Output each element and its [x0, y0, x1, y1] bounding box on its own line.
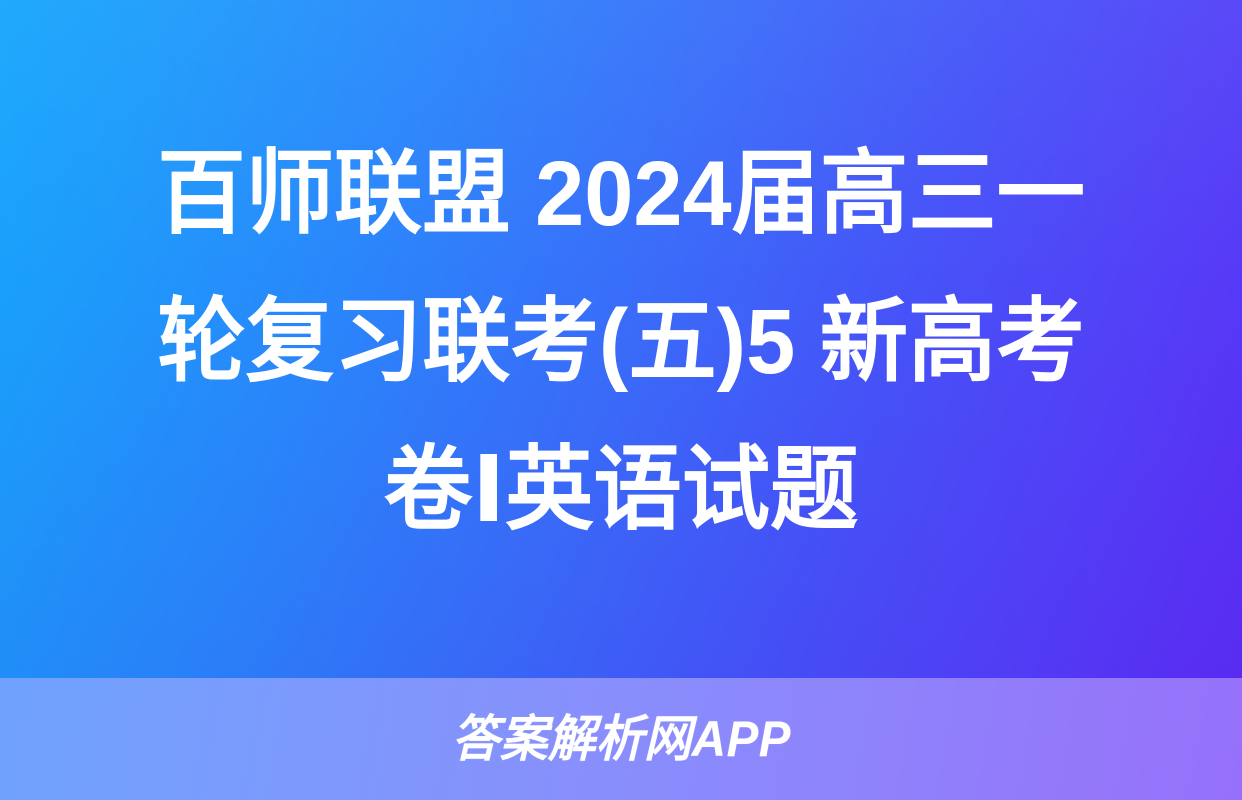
exam-title-line-2: 轮复习联考(五)5 新高考	[157, 268, 1084, 416]
brand-watermark-label: 答案解析网APP	[452, 714, 791, 764]
footer-brand-band: 答案解析网APP	[0, 678, 1242, 800]
exam-title-line-3: 卷Ⅰ英语试题	[384, 416, 858, 564]
title-card-screen: 百师联盟 2024届高三一 轮复习联考(五)5 新高考 卷Ⅰ英语试题 答案解析网…	[0, 0, 1242, 800]
exam-title-block: 百师联盟 2024届高三一 轮复习联考(五)5 新高考 卷Ⅰ英语试题	[0, 0, 1242, 678]
exam-title-line-1: 百师联盟 2024届高三一	[157, 120, 1085, 268]
